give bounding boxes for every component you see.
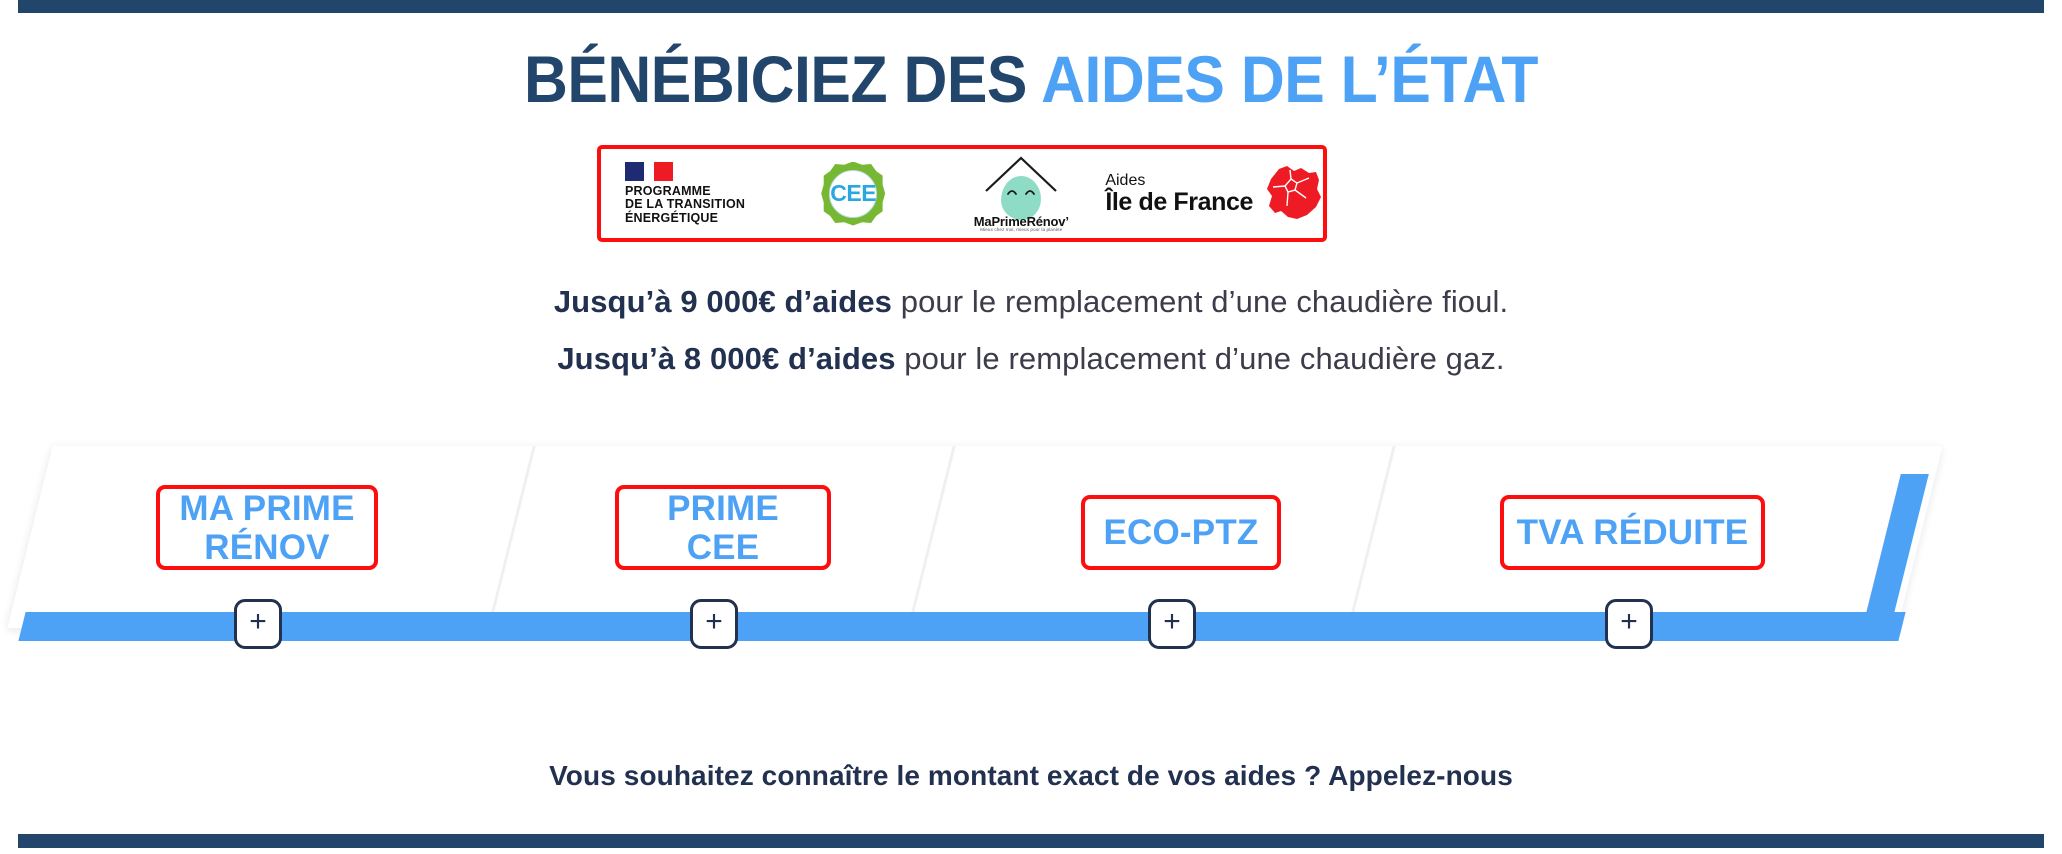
cee-inner-circle: CEE [829, 170, 877, 218]
subtitle-2-amount: Jusqu’à 8 000€ d’aides [557, 341, 895, 376]
subtitle-2-rest: pour le remplacement d’une chaudière gaz… [896, 341, 1505, 376]
page-title-light-part: AIDES DE L’ÉTAT [1041, 42, 1538, 116]
partner-logos-strip: PROGRAMME DE LA TRANSITION ÉNERGÉTIQUE C… [597, 145, 1327, 242]
subtitle-1-rest: pour le remplacement d’une chaudière fio… [892, 284, 1508, 319]
logo-idf-line2: Île de France [1105, 189, 1253, 215]
page-title: BÉNÉBICIEZ DES AIDES DE L’ÉTAT [82, 43, 1979, 115]
ile-de-france-map-icon [1261, 165, 1323, 223]
aid-box-prime-cee[interactable]: PRIME CEE [615, 485, 831, 570]
french-flag-icon [625, 162, 745, 181]
logo-maprimerenov: MaPrimeRénov’ Mieux chez moi, mieux pour… [937, 149, 1105, 238]
logo-cee: CEE [769, 149, 937, 238]
bottom-divider-bar [18, 834, 2044, 848]
logo-programme-transition-energetique: PROGRAMME DE LA TRANSITION ÉNERGÉTIQUE [601, 149, 769, 238]
logo-maprimerenov-tagline: Mieux chez moi, mieux pour la planète [963, 227, 1079, 232]
page-title-dark-part: BÉNÉBICIEZ DES [524, 42, 1041, 116]
logo-ptf-line3: ÉNERGÉTIQUE [625, 212, 745, 226]
expand-button-tva-reduite[interactable]: + [1605, 599, 1653, 649]
logo-ptf-line2: DE LA TRANSITION [625, 198, 745, 212]
expand-button-eco-ptz[interactable]: + [1148, 599, 1196, 649]
aid-box-ma-prime-renov[interactable]: MA PRIME RÉNOV [156, 485, 378, 570]
expand-button-prime-cee[interactable]: + [690, 599, 738, 649]
subtitle-line-1: Jusqu’à 9 000€ d’aides pour le remplacem… [0, 284, 2062, 320]
smiling-eyes-icon [1007, 187, 1035, 197]
subtitle-1-amount: Jusqu’à 9 000€ d’aides [554, 284, 892, 319]
logo-ptf-line1: PROGRAMME [625, 185, 745, 199]
subtitle-line-2: Jusqu’à 8 000€ d’aides pour le remplacem… [0, 341, 2062, 377]
expand-button-ma-prime-renov[interactable]: + [234, 599, 282, 649]
contact-cta-text: Vous souhaitez connaître le montant exac… [0, 760, 2062, 792]
logo-idf-line1: Aides [1105, 172, 1253, 189]
logo-aides-ile-de-france: Aides Île de France [1105, 149, 1323, 238]
aid-box-tva-reduite[interactable]: TVA RÉDUITE [1500, 495, 1765, 570]
logo-cee-label: CEE [830, 180, 876, 207]
top-divider-bar [18, 0, 2044, 13]
aid-box-eco-ptz[interactable]: ECO-PTZ [1081, 495, 1281, 570]
